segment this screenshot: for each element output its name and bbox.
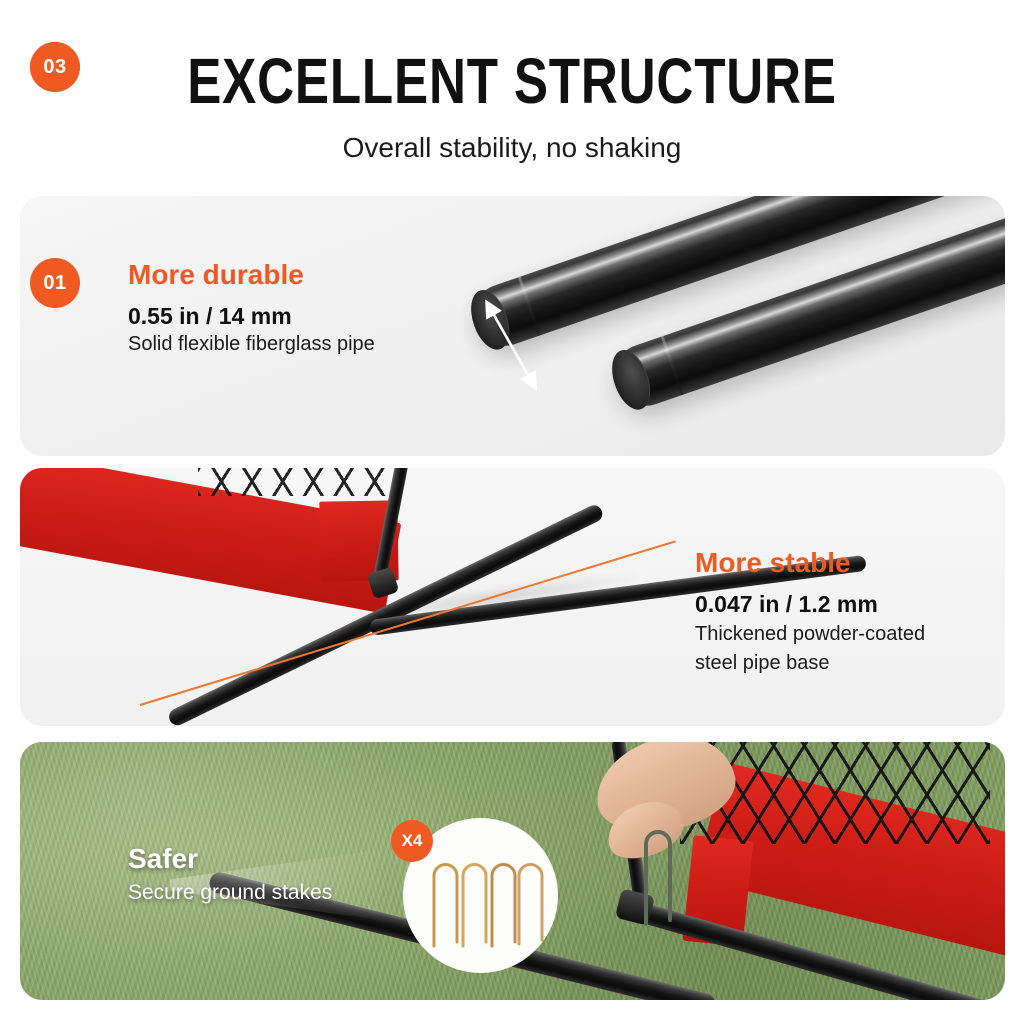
feature-02-heading: More stable	[695, 546, 925, 580]
feature-badge-01: 01	[30, 258, 80, 308]
dimension-arrow-icon	[468, 292, 558, 402]
feature-03-heading: Safer	[128, 842, 332, 876]
feature-01-text-block: More durable 0.55 in / 14 mm Solid flexi…	[128, 258, 375, 358]
feature-01-heading: More durable	[128, 258, 375, 292]
feature-03-description: Secure ground stakes	[128, 879, 332, 907]
pipe-seam-icon	[661, 336, 684, 396]
stake-quantity-badge: X4	[391, 820, 433, 862]
page-subtitle: Overall stability, no shaking	[0, 131, 1024, 165]
feature-panel-01: More durable 0.55 in / 14 mm Solid flexi…	[20, 196, 1005, 456]
feature-panel-02: More stable 0.047 in / 1.2 mm Thickened …	[20, 468, 1005, 726]
feature-03-text-block: Safer Secure ground stakes	[128, 842, 332, 907]
pipe-cap-icon	[605, 345, 657, 415]
feature-01-spec: 0.55 in / 14 mm	[128, 301, 375, 331]
feature-badge-03: 03	[30, 42, 80, 92]
page-title: EXCELLENT STRUCTURE	[102, 48, 921, 114]
feature-01-description: Solid flexible fiberglass pipe	[128, 331, 375, 358]
infographic-page: EXCELLENT STRUCTURE Overall stability, n…	[0, 0, 1024, 1024]
feature-02-description-line2: steel pipe base	[695, 650, 925, 677]
net-mesh-icon	[198, 468, 398, 496]
feature-02-text-block: More stable 0.047 in / 1.2 mm Thickened …	[695, 546, 925, 677]
feature-02-spec: 0.047 in / 1.2 mm	[695, 589, 925, 619]
ground-stake-icon	[632, 820, 688, 930]
stakes-inset-circle: X4	[403, 818, 558, 973]
feature-02-description-line1: Thickened powder-coated	[695, 621, 925, 648]
